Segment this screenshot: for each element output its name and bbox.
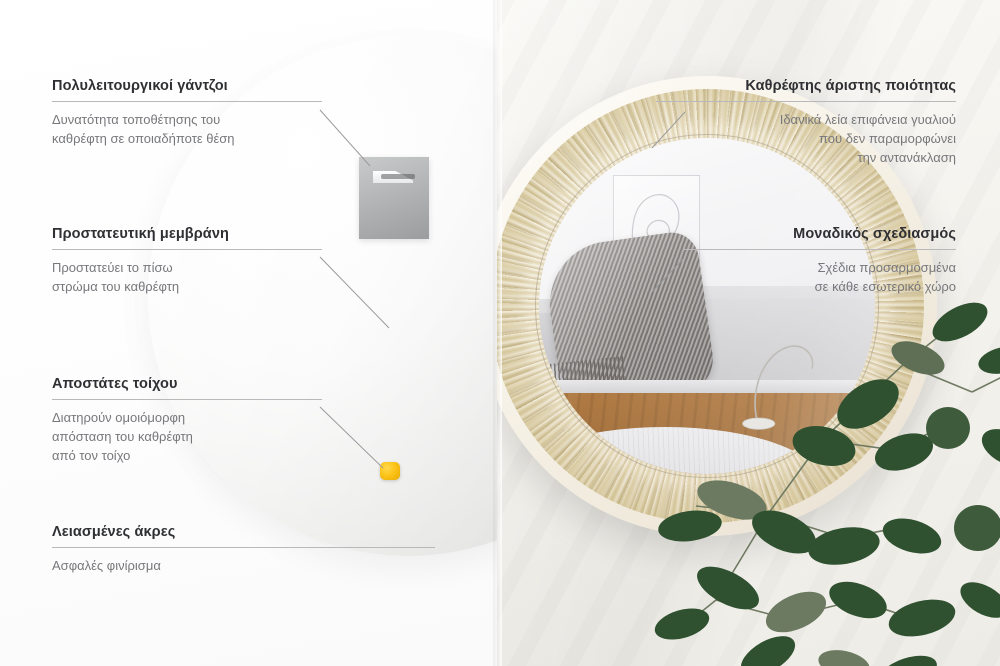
- callout-edges-title: Λειασμένες άκρες: [52, 524, 435, 540]
- callout-quality-description: Ιδανικά λεία επιφάνεια γυαλιού που δεν π…: [656, 111, 956, 168]
- callout-quality-title: Καθρέφτης άριστης ποιότητας: [656, 78, 956, 94]
- callout-design-description: Σχέδια προσαρμοσμένα σε κάθε εσωτερικό χ…: [684, 259, 956, 297]
- callout-membrane-description: Προστατεύει το πίσω στρώμα του καθρέφτη: [52, 259, 322, 297]
- hanging-bracket: [359, 157, 429, 239]
- yellow-spacer: [380, 462, 400, 480]
- callout-hooks-description: Δυνατότητα τοποθέτησης του καθρέφτη σε ο…: [52, 111, 322, 149]
- callout-membrane-title: Προστατευτική μεμβράνη: [52, 226, 322, 242]
- callout-edges-rule: [52, 547, 435, 548]
- callout-quality-rule: [656, 101, 956, 102]
- callout-membrane: Προστατευτική μεμβράνη Προστατεύει το πί…: [52, 226, 322, 297]
- callout-edges: Λειασμένες άκρες Ασφαλές φινίρισμα: [52, 524, 435, 576]
- panel-seam: [493, 0, 502, 666]
- callout-spacers-title: Αποστάτες τοίχου: [52, 376, 322, 392]
- callout-quality: Καθρέφτης άριστης ποιότητας Ιδανικά λεία…: [656, 78, 956, 168]
- callout-design-title: Μοναδικός σχεδιασμός: [684, 226, 956, 242]
- callout-hooks-title: Πολυλειτουργικοί γάντζοι: [52, 78, 322, 94]
- callout-membrane-rule: [52, 249, 322, 250]
- callout-spacers-description: Διατηρούν ομοιόμορφη απόσταση του καθρέφ…: [52, 409, 322, 466]
- infographic-stage: Πολυλειτουργικοί γάντζοι Δυνατότητα τοπο…: [0, 0, 1000, 666]
- callout-spacers: Αποστάτες τοίχου Διατηρούν ομοιόμορφη απ…: [52, 376, 322, 466]
- bracket-slot-shadow: [381, 174, 415, 179]
- callout-hooks: Πολυλειτουργικοί γάντζοι Δυνατότητα τοπο…: [52, 78, 322, 149]
- callout-spacers-rule: [52, 399, 322, 400]
- callout-edges-description: Ασφαλές φινίρισμα: [52, 557, 435, 576]
- callout-hooks-rule: [52, 101, 322, 102]
- callout-design: Μοναδικός σχεδιασμός Σχέδια προσαρμοσμέν…: [684, 226, 956, 297]
- green-foliage: [672, 300, 1000, 666]
- callout-design-rule: [684, 249, 956, 250]
